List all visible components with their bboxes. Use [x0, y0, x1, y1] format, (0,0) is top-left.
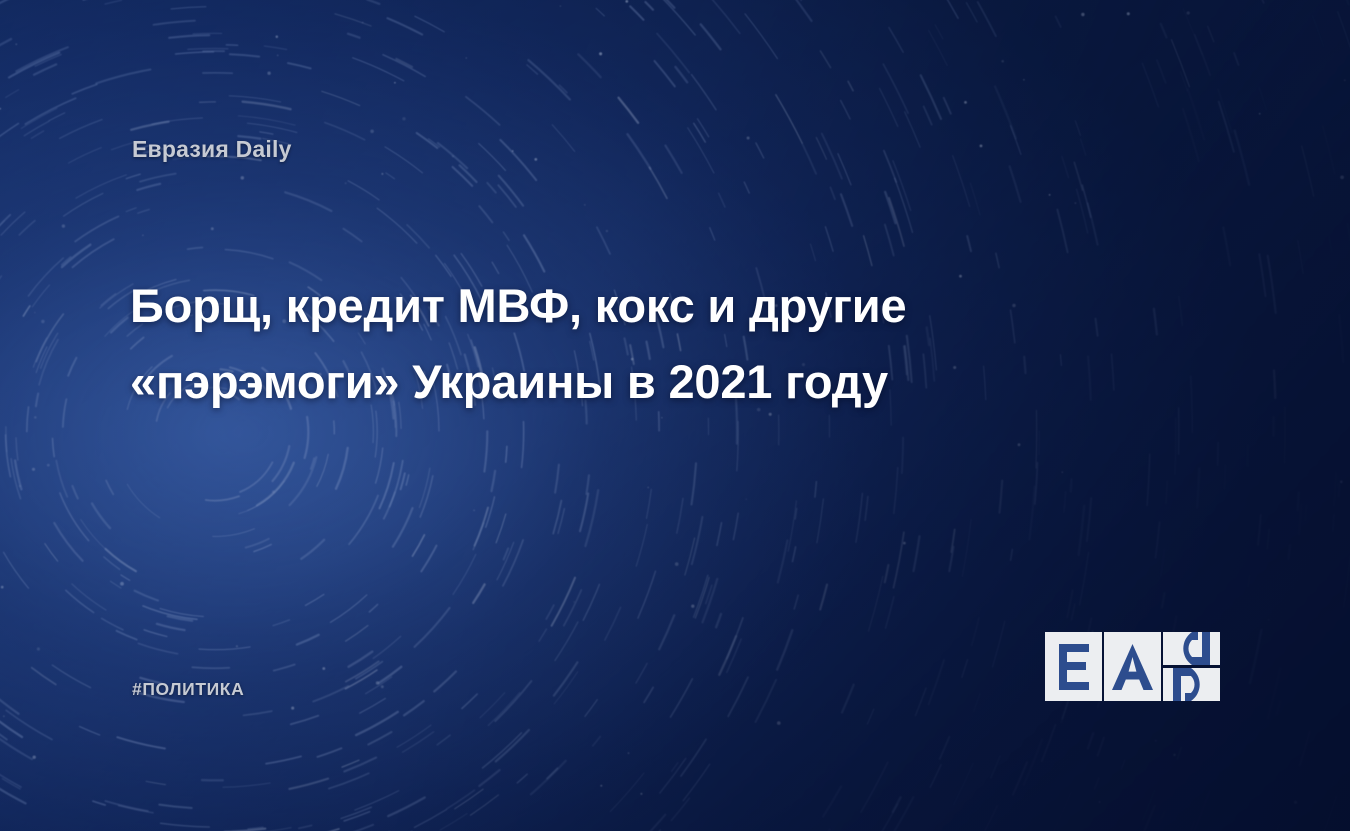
headline-line-2: «пэрэмоги» Украины в 2021 году [130, 344, 1060, 420]
logo-letter-d-upper-icon [1163, 632, 1220, 665]
logo-tile-d [1163, 632, 1220, 701]
headline: Борщ, кредит МВФ, кокс и другие «пэрэмог… [130, 268, 1060, 420]
logo-tile-d-bottom [1163, 668, 1220, 701]
eadaily-logo[interactable] [1045, 632, 1221, 701]
logo-letter-e-icon [1055, 644, 1092, 690]
headline-line-1: Борщ, кредит МВФ, кокс и другие [130, 268, 1060, 344]
logo-tile-e [1045, 632, 1102, 701]
logo-letter-d-lower-icon [1163, 668, 1220, 701]
logo-tile-a [1104, 632, 1161, 701]
category-hashtag[interactable]: #ПОЛИТИКА [132, 679, 244, 700]
logo-letter-a-icon [1112, 644, 1153, 690]
site-masthead: Евразия Daily [132, 136, 292, 163]
logo-tile-d-top [1163, 632, 1220, 665]
social-card: Евразия Daily Борщ, кредит МВФ, кокс и д… [0, 0, 1350, 831]
